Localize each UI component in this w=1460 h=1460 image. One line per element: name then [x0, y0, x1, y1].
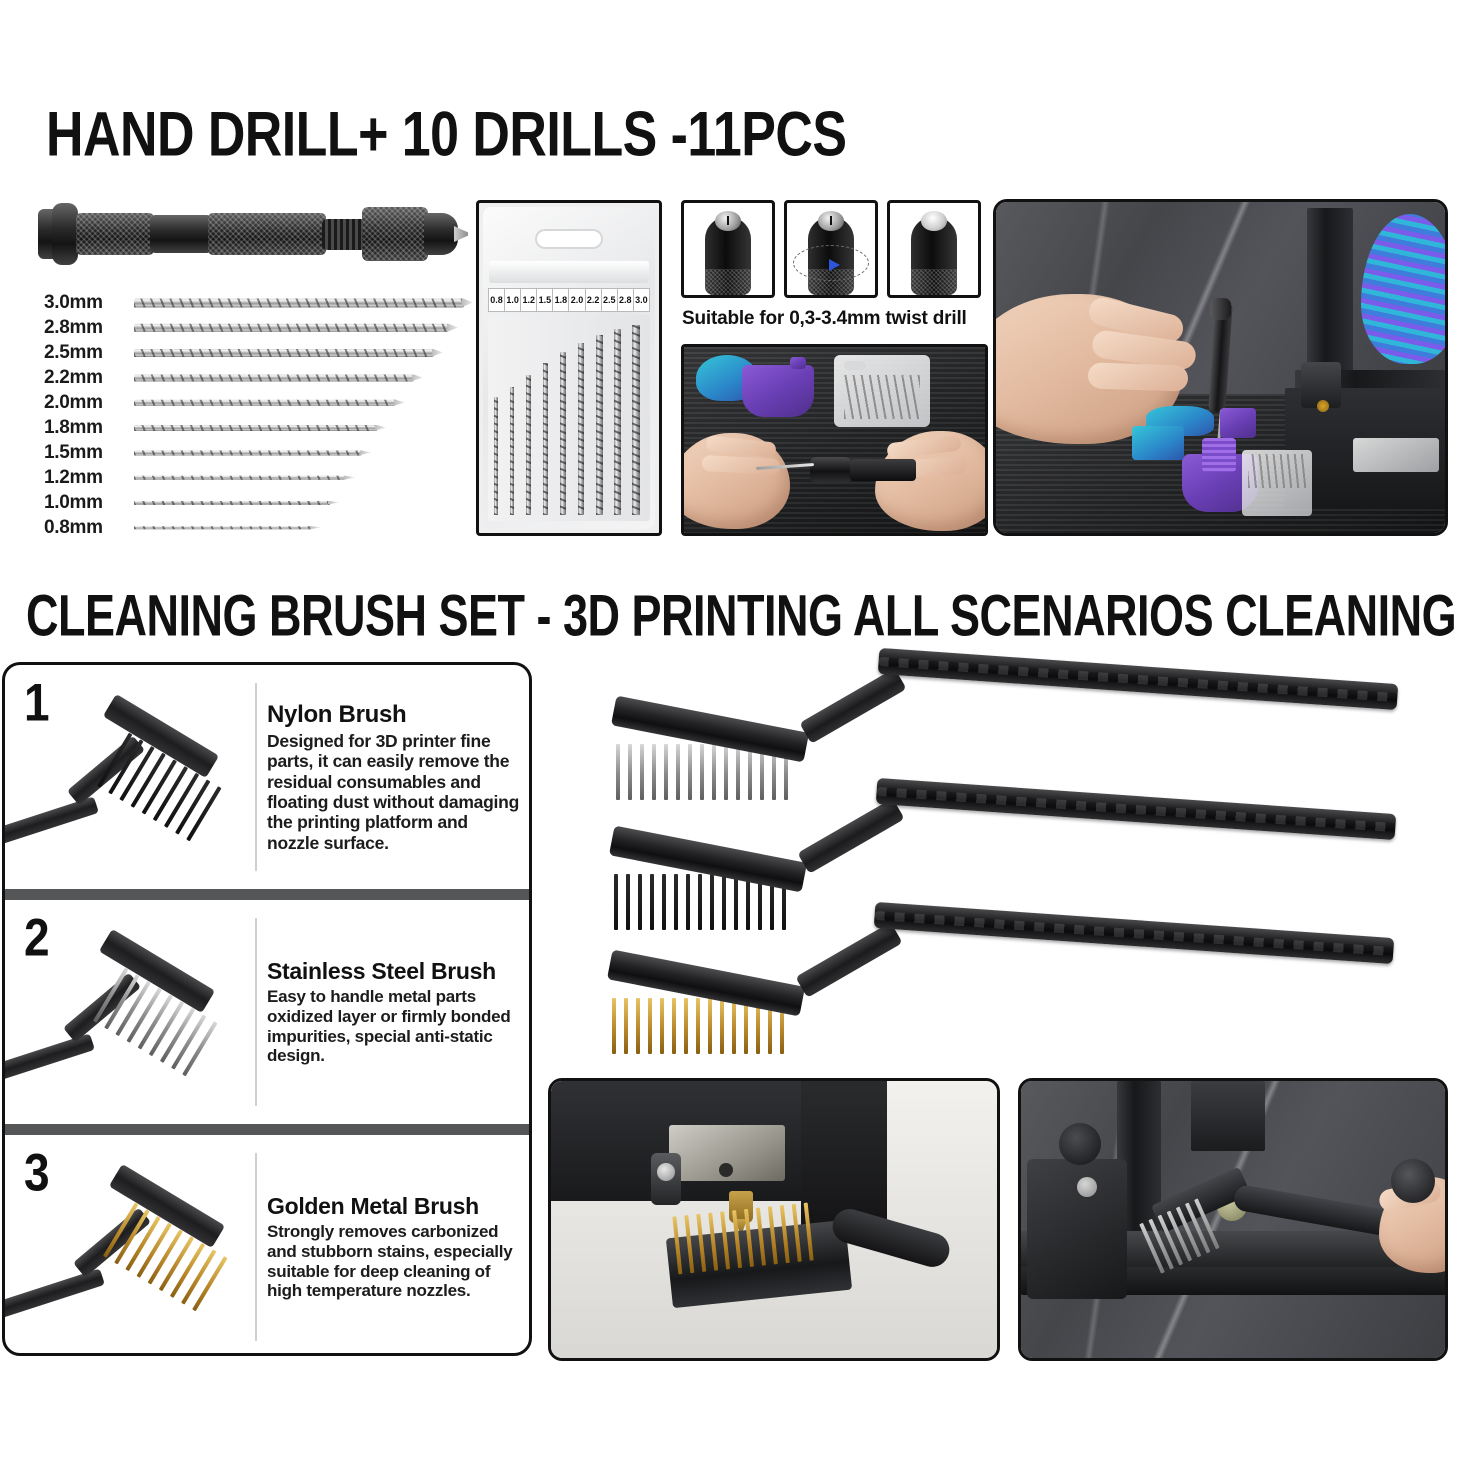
chuck-closed-photo: [887, 200, 981, 298]
case-size-cell: 2.8: [618, 289, 634, 311]
case-size-cell: 2.0: [569, 289, 585, 311]
chuck-caption: Suitable for 0,3-3.4mm twist drill: [682, 308, 967, 330]
drill-bit-row: 0.8mm: [44, 515, 464, 540]
card-body: Designed for 3D printer fine parts, it c…: [267, 731, 521, 854]
brush-set-title: CLEANING BRUSH SET - 3D PRINTING ALL SCE…: [26, 582, 1460, 650]
card-body: Easy to handle metal parts oxidized laye…: [267, 987, 521, 1067]
card-divider: [255, 683, 257, 871]
bit-size-label: 1.2mm: [44, 467, 124, 489]
card-divider: [255, 918, 257, 1106]
case-size-cell: 3.0: [634, 289, 649, 311]
bit-size-label: 2.5mm: [44, 342, 124, 364]
drill-bit-row: 2.5mm: [44, 340, 464, 365]
card-separator: [5, 889, 529, 900]
drill-in-use-printer-photo: [993, 199, 1448, 536]
drill-bit-size-list: 3.0mm 2.8mm 2.5mm 2.2mm 2.0mm 1.8mm 1.5m…: [44, 290, 464, 540]
brass-brush-thumb: [5, 1135, 255, 1356]
chuck-open-photo: [681, 200, 775, 298]
bit-size-label: 2.2mm: [44, 367, 124, 389]
bit-size-label: 0.8mm: [44, 517, 124, 539]
bit-size-label: 1.8mm: [44, 417, 124, 439]
case-size-cell: 1.0: [505, 289, 521, 311]
drill-bit-case-photo: 0.8 1.0 1.2 1.5 1.8 2.0 2.2 2.5 2.8 3.0: [476, 200, 662, 536]
bit-insertion-photo: [681, 344, 988, 536]
feature-card-golden: 3 Golden Metal Brush Strongly removes ca…: [5, 1135, 529, 1356]
bit-size-label: 2.0mm: [44, 392, 124, 414]
case-size-cell: 0.8: [489, 289, 505, 311]
case-size-cell: 1.8: [553, 289, 569, 311]
rail-cleaning-photo: [1018, 1078, 1448, 1361]
three-brushes-photo: [548, 648, 1448, 1068]
card-body: Strongly removes carbonized and stubborn…: [267, 1222, 521, 1302]
drill-bit-row: 2.0mm: [44, 390, 464, 415]
card-separator: [5, 1124, 529, 1135]
card-divider: [255, 1153, 257, 1341]
case-size-strip: 0.8 1.0 1.2 1.5 1.8 2.0 2.2 2.5 2.8 3.0: [488, 288, 650, 312]
card-title: Golden Metal Brush: [267, 1193, 521, 1220]
card-title: Stainless Steel Brush: [267, 958, 521, 985]
feature-card-stainless: 2 Stainless Steel Brush Easy to handle m…: [5, 900, 529, 1124]
feature-card-nylon: 1 Nylon Brush Designed for 3D printer fi…: [5, 665, 529, 889]
drill-bit-row: 2.8mm: [44, 315, 464, 340]
rotation-arrow-icon: [829, 259, 840, 271]
bit-size-label: 1.0mm: [44, 492, 124, 514]
nozzle-cleaning-photo: [548, 1078, 1000, 1361]
drill-bit-row: 3.0mm: [44, 290, 464, 315]
case-size-cell: 2.5: [602, 289, 618, 311]
card-title: Nylon Brush: [267, 701, 521, 729]
drill-bit-row: 1.8mm: [44, 415, 464, 440]
hand-drill-title: HAND DRILL+ 10 DRILLS -11PCS: [46, 99, 846, 171]
hang-hole: [535, 229, 603, 249]
hand-drill-illustration: [38, 193, 468, 275]
case-size-cell: 2.2: [586, 289, 602, 311]
brush-feature-cards: 1 Nylon Brush Designed for 3D printer fi…: [2, 662, 532, 1356]
case-size-cell: 1.5: [537, 289, 553, 311]
drill-bit-row: 1.0mm: [44, 490, 464, 515]
steel-brush-thumb: [5, 900, 255, 1124]
case-size-cell: 1.2: [521, 289, 537, 311]
drill-bit-row: 2.2mm: [44, 365, 464, 390]
bit-size-label: 1.5mm: [44, 442, 124, 464]
nylon-brush-thumb: [5, 665, 255, 889]
bit-size-label: 3.0mm: [44, 292, 124, 314]
chuck-rotating-photo: [784, 200, 878, 298]
bit-size-label: 2.8mm: [44, 317, 124, 339]
drill-bit-row: 1.5mm: [44, 440, 464, 465]
drill-bit-row: 1.2mm: [44, 465, 464, 490]
